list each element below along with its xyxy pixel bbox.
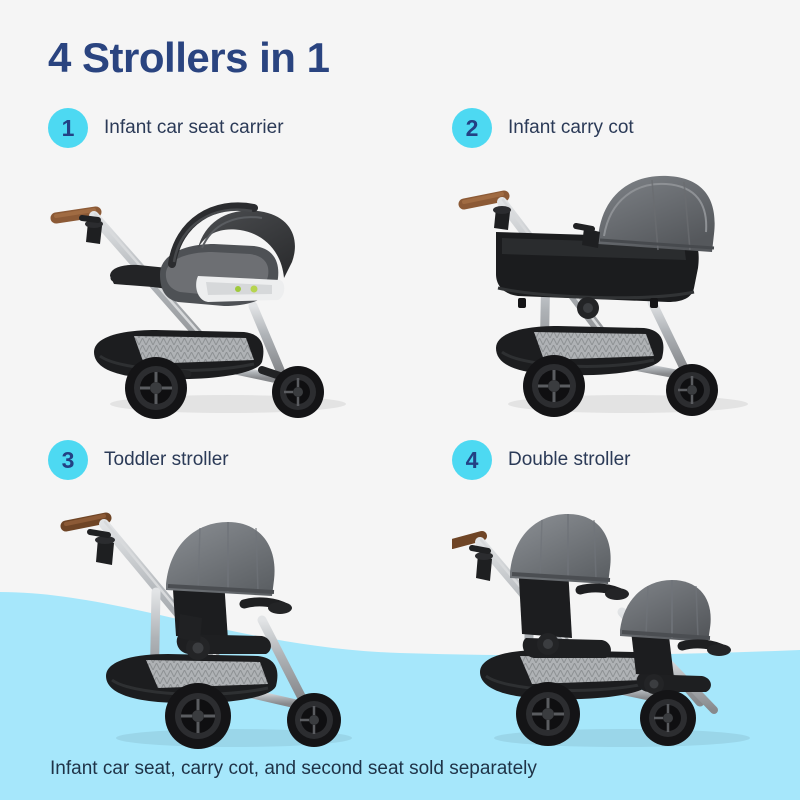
stroller-toddler-seat-illustration	[48, 488, 408, 758]
step-badge-4: 4	[452, 440, 492, 480]
disclaimer-note: Infant car seat, carry cot, and second s…	[50, 758, 537, 780]
panel-header: 4 Double stroller	[452, 432, 800, 488]
mode-label-2: Infant carry cot	[508, 117, 634, 139]
mode-label-3: Toddler stroller	[104, 449, 229, 471]
stroller-with-infant-car-seat-illustration	[48, 156, 408, 426]
stroller-double-seat-illustration	[452, 488, 800, 758]
stroller-modes-infographic: 4 Strollers in 1 1 Infant car seat carri…	[0, 0, 800, 800]
panel-header: 3 Toddler stroller	[48, 432, 408, 488]
mode-label-1: Infant car seat carrier	[104, 117, 284, 139]
mode-panel-toddler-stroller: 3 Toddler stroller	[48, 432, 408, 752]
mode-panel-infant-carry-cot: 2 Infant carry cot	[452, 100, 800, 430]
panel-header: 1 Infant car seat carrier	[48, 100, 408, 156]
page-title: 4 Strollers in 1	[48, 34, 329, 82]
mode-label-4: Double stroller	[508, 449, 631, 471]
panel-header: 2 Infant carry cot	[452, 100, 800, 156]
step-badge-2: 2	[452, 108, 492, 148]
step-badge-3: 3	[48, 440, 88, 480]
stroller-with-carry-cot-illustration	[452, 156, 800, 426]
step-badge-1: 1	[48, 108, 88, 148]
mode-panel-double-stroller: 4 Double stroller	[452, 432, 800, 752]
mode-panel-infant-car-seat-carrier: 1 Infant car seat carrier	[48, 100, 408, 430]
